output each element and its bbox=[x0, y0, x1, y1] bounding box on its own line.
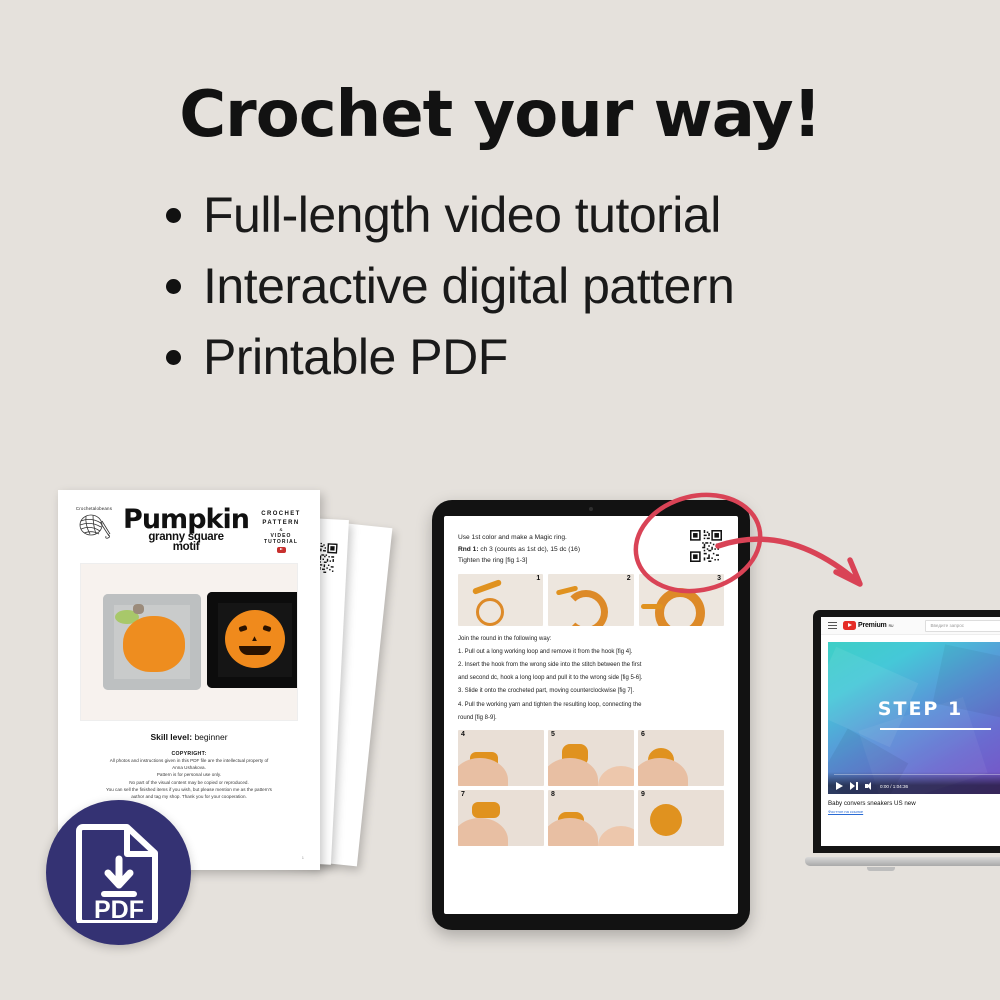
list-item-label: Full-length video tutorial bbox=[203, 186, 721, 244]
pdf-download-badge[interactable]: PDF bbox=[46, 800, 191, 945]
bullet-dot-icon bbox=[166, 350, 181, 365]
page-number: 1 bbox=[302, 855, 304, 860]
video-overlay-rule bbox=[880, 728, 991, 730]
pattern-round-line: Rnd 1: ch 3 (counts as 1st dc), 15 dc (1… bbox=[458, 544, 724, 556]
copyright-line: No part of the visual content may be cop… bbox=[72, 779, 306, 786]
youtube-badge-icon bbox=[277, 547, 286, 554]
skill-level-value: beginner bbox=[194, 732, 227, 742]
cover-badge: CROCHET PATTERN & VIDEO TUTORIAL bbox=[256, 506, 306, 553]
figure-number: 4 bbox=[461, 731, 465, 738]
figure-number: 9 bbox=[641, 791, 645, 798]
figure-number: 6 bbox=[641, 731, 645, 738]
join-step-line: and second dc, hook a long loop and pull… bbox=[458, 673, 724, 683]
pattern-intro-line: Use 1st color and make a Magic ring. bbox=[458, 532, 724, 544]
pattern-tighten-line: Tighten the ring [fig 1-3] bbox=[458, 555, 724, 567]
copyright-line: Anna Ushakova. bbox=[72, 764, 306, 771]
figure-photo: 3 bbox=[639, 574, 724, 626]
figure-number: 1 bbox=[536, 575, 540, 582]
figure-photo: 1 bbox=[458, 574, 543, 626]
video-title: Baby convers sneakers US new bbox=[828, 800, 1000, 807]
figure-grid: 4 5 6 7 bbox=[458, 730, 724, 846]
search-placeholder: Введите запрос bbox=[930, 623, 964, 628]
pdf-badge-label: PDF bbox=[94, 896, 144, 923]
player-controls[interactable]: 0:00 / 1:04:36 bbox=[828, 772, 1000, 794]
hamburger-menu-icon[interactable] bbox=[828, 622, 837, 630]
join-instructions: Join the round in the following way: 1. … bbox=[458, 634, 724, 723]
figure-photo: 5 bbox=[548, 730, 634, 786]
video-player[interactable]: STEP 1 0:00 / 1:04:36 bbox=[828, 642, 1000, 794]
pumpkin-stem bbox=[133, 604, 144, 614]
figure-photo: 7 bbox=[458, 790, 544, 846]
cover-subtitle-2: motif bbox=[122, 542, 250, 554]
cover-badge-line3: VIDEO TUTORIAL bbox=[256, 533, 306, 545]
cover-title: Pumpkin bbox=[122, 506, 250, 533]
timecode: 0:00 / 1:04:36 bbox=[880, 784, 908, 789]
next-track-icon[interactable] bbox=[850, 782, 858, 790]
browser-window[interactable]: Premium RU Введите запрос STEP 1 bbox=[821, 617, 1000, 846]
pumpkin-shape bbox=[123, 616, 185, 672]
join-heading: Join the round in the following way: bbox=[458, 634, 724, 644]
figure-photo: 9 bbox=[638, 790, 724, 846]
figure-number: 7 bbox=[461, 791, 465, 798]
progress-bar[interactable] bbox=[834, 774, 1000, 775]
qr-code-icon[interactable] bbox=[690, 530, 722, 562]
video-overlay-title: STEP 1 bbox=[828, 698, 1000, 720]
bullet-dot-icon bbox=[166, 208, 181, 223]
youtube-logo[interactable]: Premium RU bbox=[843, 621, 893, 630]
skill-level: Skill level: beginner bbox=[72, 732, 306, 742]
page-title: Crochet your way! bbox=[0, 78, 1000, 152]
play-icon[interactable] bbox=[835, 782, 843, 790]
list-item: Full-length video tutorial bbox=[150, 186, 930, 244]
laptop-device[interactable]: Premium RU Введите запрос STEP 1 bbox=[805, 610, 1000, 880]
volume-icon[interactable] bbox=[865, 782, 873, 790]
bullet-dot-icon bbox=[166, 279, 181, 294]
cover-badge-line1: CROCHET bbox=[256, 510, 306, 519]
figure-number: 2 bbox=[627, 575, 631, 582]
figure-number: 8 bbox=[551, 791, 555, 798]
laptop-notch bbox=[867, 867, 895, 871]
youtube-logo-superscript: RU bbox=[889, 624, 894, 628]
yarn-ball-icon bbox=[76, 512, 112, 540]
figure-photo: 8 bbox=[548, 790, 634, 846]
join-step-line: 4. Pull the working yarn and tighten the… bbox=[458, 700, 724, 710]
join-step-line: round [fig 8-9]. bbox=[458, 713, 724, 723]
youtube-header: Premium RU Введите запрос bbox=[821, 617, 1000, 635]
list-item: Interactive digital pattern bbox=[150, 257, 930, 315]
copyright-line: author and tag my shop. Thank you for yo… bbox=[72, 793, 306, 800]
feature-list: Full-length video tutorial Interactive d… bbox=[150, 186, 930, 399]
tablet-screen[interactable]: Use 1st color and make a Magic ring. Rnd… bbox=[444, 516, 738, 914]
cover-badge-line2: PATTERN bbox=[256, 519, 306, 528]
arrow-head-icon bbox=[836, 560, 860, 584]
youtube-logo-text: Premium bbox=[858, 622, 887, 629]
cover-photo bbox=[80, 563, 298, 721]
laptop-base bbox=[805, 857, 1000, 866]
join-step-line: 1. Pull out a long working loop and remo… bbox=[458, 647, 724, 657]
camera-icon bbox=[589, 507, 593, 511]
list-item: Printable PDF bbox=[150, 328, 930, 386]
video-subtitle-link[interactable]: Фосттон па ссылке bbox=[828, 809, 1000, 814]
figure-photo: 2 bbox=[548, 574, 633, 626]
figure-row-top: 1 2 3 bbox=[458, 574, 724, 626]
skill-level-label: Skill level: bbox=[150, 732, 192, 742]
copyright-line: All photos and instructions given in thi… bbox=[72, 757, 306, 764]
promo-canvas: Crochet your way! Full-length video tuto… bbox=[0, 0, 1000, 1000]
round-text: ch 3 (counts as 1st dc), 15 dc (16) bbox=[479, 546, 581, 553]
list-item-label: Printable PDF bbox=[203, 328, 508, 386]
round-label: Rnd 1: bbox=[458, 546, 479, 553]
tablet-device[interactable]: Use 1st color and make a Magic ring. Rnd… bbox=[432, 500, 750, 930]
jack-mouth bbox=[239, 646, 271, 655]
laptop-lid: Premium RU Введите запрос STEP 1 bbox=[813, 610, 1000, 853]
copyright-line: Pattern is for personal use only. bbox=[72, 771, 306, 778]
figure-photo: 6 bbox=[638, 730, 724, 786]
copyright-line: You can sell the finished items if you w… bbox=[72, 786, 306, 793]
youtube-play-icon bbox=[843, 621, 856, 630]
figure-number: 5 bbox=[551, 731, 555, 738]
join-step-line: 3. Slide it onto the crocheted part, mov… bbox=[458, 686, 724, 696]
brand-logo: Crochetalobeans bbox=[72, 506, 116, 540]
list-item-label: Interactive digital pattern bbox=[203, 257, 734, 315]
figure-number: 3 bbox=[717, 575, 721, 582]
figure-photo: 4 bbox=[458, 730, 544, 786]
document-download-icon: PDF bbox=[75, 823, 163, 923]
search-input[interactable]: Введите запрос bbox=[925, 620, 1000, 632]
join-step-line: 2. Insert the hook from the wrong side i… bbox=[458, 660, 724, 670]
brand-name: Crochetalobeans bbox=[72, 506, 116, 511]
